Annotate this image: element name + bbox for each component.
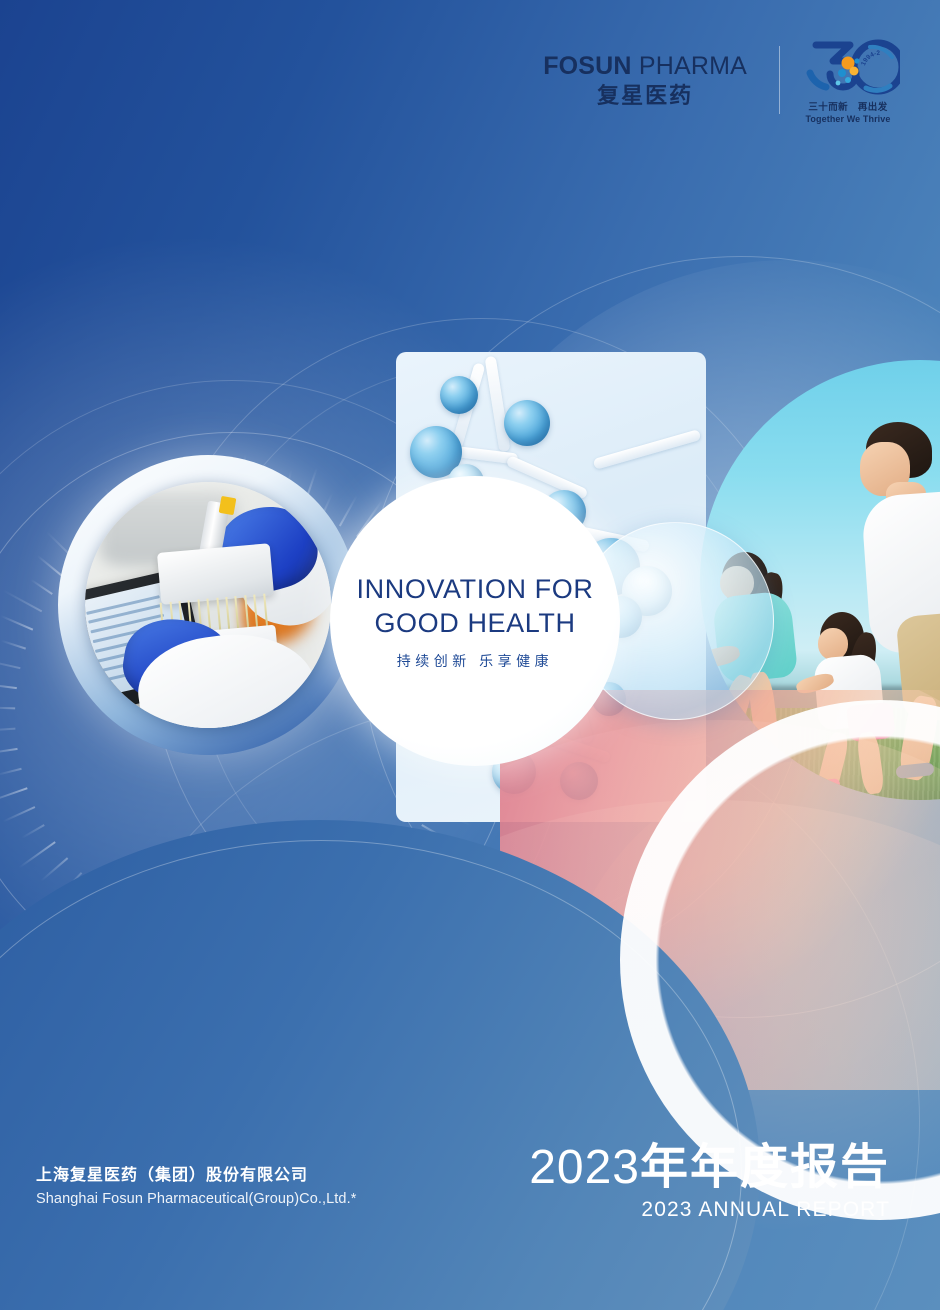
report-title-en-text: ANNUAL REPORT: [693, 1198, 890, 1221]
anniversary-tagline-en: Together We Thrive: [806, 114, 891, 124]
brand-name-en-bold: FOSUN: [543, 52, 632, 80]
hero-subline: 持续创新 乐享健康: [397, 651, 553, 671]
company-name-en: Shanghai Fosun Pharmaceutical(Group)Co.,…: [36, 1188, 356, 1211]
report-title-en: 2023 ANNUAL REPORT: [529, 1198, 890, 1222]
logo-divider: [779, 46, 780, 114]
molecule-atom: [504, 400, 550, 446]
report-title-en-year: 2023: [641, 1198, 692, 1221]
report-title-block: 2023年年度报告 2023 ANNUAL REPORT: [529, 1142, 890, 1222]
report-title-cn: 2023年年度报告: [529, 1142, 890, 1194]
hero-headline: INNOVATION FOR GOOD HEALTH: [357, 572, 594, 640]
girl-face: [818, 628, 848, 660]
anniversary-30-icon: 1994-2024: [796, 36, 900, 98]
anniversary-logo: 1994-2024 三十而新 再出发 Together We Thrive: [796, 36, 900, 124]
molecule-atom: [440, 376, 478, 414]
hero-headline-line1: INNOVATION FOR: [357, 572, 594, 606]
company-name-block: 上海复星医药（集团）股份有限公司 Shanghai Fosun Pharmace…: [36, 1164, 356, 1211]
brand-name-en-light: PHARMA: [632, 52, 747, 80]
brand-name-en: FOSUN PHARMA: [543, 54, 747, 79]
molecule-rod: [485, 356, 511, 453]
hero-text-block: INNOVATION FOR GOOD HEALTH 持续创新 乐享健康: [330, 476, 620, 766]
company-name-cn: 上海复星医药（集团）股份有限公司: [36, 1164, 356, 1188]
fosun-wordmark: FOSUN PHARMA 复星医药: [543, 54, 763, 107]
report-title-year: 2023: [529, 1141, 640, 1194]
report-title-cn-text: 年年度报告: [640, 1141, 890, 1194]
hero-headline-line2: GOOD HEALTH: [357, 606, 594, 640]
lab-photo: [85, 482, 331, 728]
brand-logo: FOSUN PHARMA 复星医药 1994-2024: [543, 36, 900, 124]
anniversary-tagline-cn: 三十而新 再出发: [808, 99, 887, 113]
report-cover: INNOVATION FOR GOOD HEALTH 持续创新 乐享健康 FOS…: [0, 0, 940, 1310]
brand-name-cn: 复星医药: [597, 85, 693, 107]
